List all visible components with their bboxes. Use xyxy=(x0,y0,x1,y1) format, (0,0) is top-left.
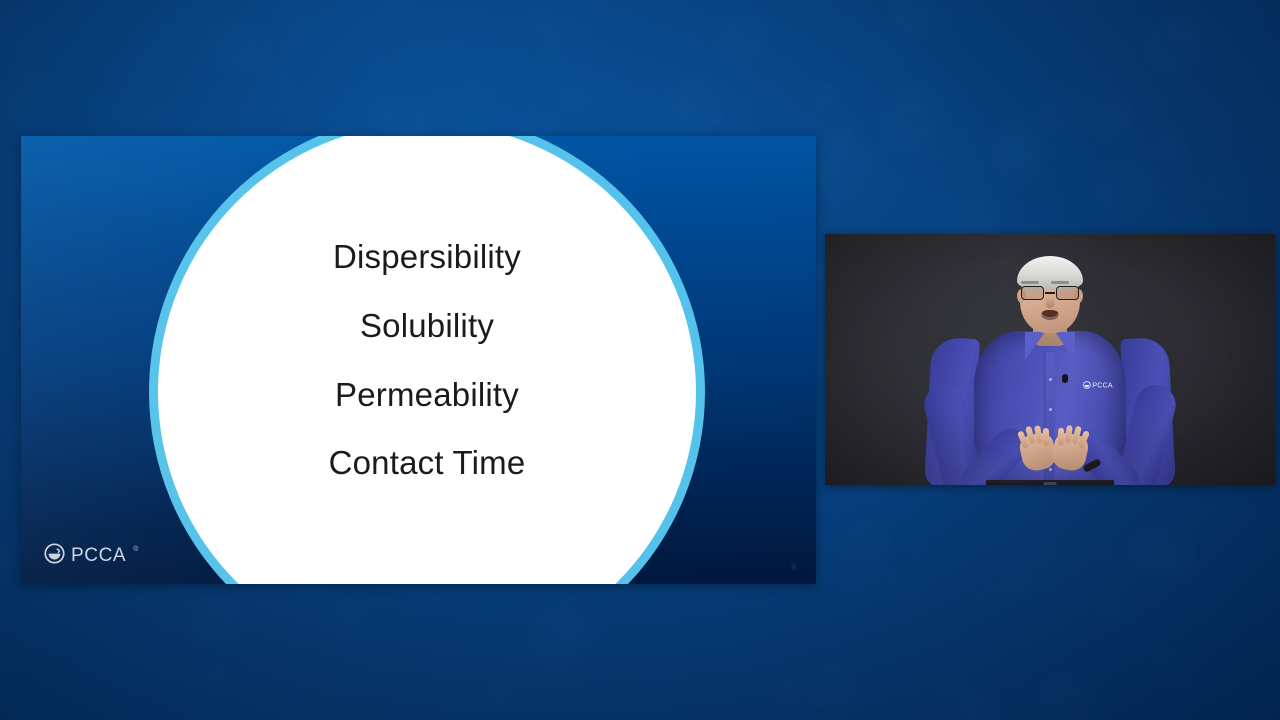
slide-bullet-item: Permeability xyxy=(335,377,519,413)
pcca-logo: PCCA ® xyxy=(44,543,138,569)
pcca-wordmark: PCCA xyxy=(71,545,126,567)
pcca-trademark: ® xyxy=(133,546,138,553)
presenter-hair xyxy=(1017,256,1083,290)
presenter-eyebrow-right xyxy=(1051,281,1069,284)
presenter-figure: PCCA xyxy=(825,234,1275,485)
presenter-lapel-mic xyxy=(1062,374,1068,383)
presenter-belt-buckle xyxy=(1044,482,1057,485)
slide-bullet-list: Dispersibility Solubility Permeability C… xyxy=(158,136,696,584)
slide-bullet-item: Dispersibility xyxy=(333,239,521,275)
presenter-collar-left xyxy=(1025,332,1045,360)
presenter-collar-right xyxy=(1055,332,1075,360)
studio-background: Dispersibility Solubility Permeability C… xyxy=(0,0,1280,720)
slide-bullet-item: Solubility xyxy=(360,308,494,344)
slide-page-number: 9 xyxy=(791,562,796,572)
presenter-eyebrow-left xyxy=(1021,281,1039,284)
presentation-slide[interactable]: Dispersibility Solubility Permeability C… xyxy=(21,136,816,584)
presenter-nose xyxy=(1046,296,1055,308)
presenter-shirt-logo: PCCA xyxy=(1083,381,1113,389)
slide-bullet-item: Contact Time xyxy=(329,445,526,481)
presenter-shirt-logo-text: PCCA xyxy=(1092,381,1112,389)
presenter-video-panel[interactable]: PCCA xyxy=(825,234,1275,485)
pcca-circle-mark-icon xyxy=(44,543,65,569)
presenter-mouth xyxy=(1042,310,1059,320)
